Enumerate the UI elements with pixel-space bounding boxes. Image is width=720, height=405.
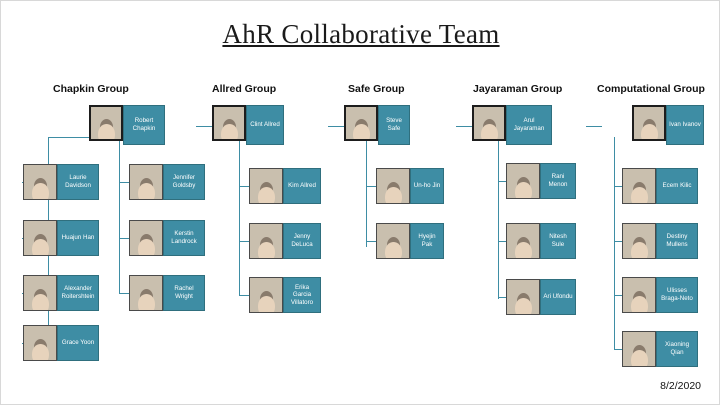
connector-allred-lead xyxy=(196,126,212,127)
person-name: Arul Jayaraman xyxy=(506,105,552,145)
portrait-photo xyxy=(23,275,57,311)
portrait-photo xyxy=(23,325,57,361)
portrait-photo xyxy=(249,277,283,313)
portrait-photo xyxy=(129,164,163,200)
portrait-photo xyxy=(212,105,246,141)
portrait-photo xyxy=(129,275,163,311)
portrait-photo xyxy=(376,168,410,204)
portrait-photo xyxy=(472,105,506,141)
portrait-photo xyxy=(622,223,656,259)
portrait-photo xyxy=(376,223,410,259)
portrait-photo xyxy=(622,277,656,313)
person-card-ulisses-braga-neto[interactable]: Ulisses Braga-Neto xyxy=(622,277,698,313)
connector-computational-2 xyxy=(614,241,622,242)
connector-allred-3 xyxy=(239,295,249,296)
page-title: AhR Collaborative Team xyxy=(1,19,720,50)
connector-jayaraman-spine xyxy=(498,137,499,299)
person-name: Hyejin Pak xyxy=(410,223,444,259)
person-card-robert-chapkin[interactable]: Robert Chapkin xyxy=(89,105,165,145)
portrait-photo xyxy=(506,223,540,259)
person-name: Destiny Mullens xyxy=(656,223,698,259)
connector-jayaraman-3 xyxy=(498,297,506,298)
person-card-destiny-mullens[interactable]: Destiny Mullens xyxy=(622,223,698,259)
person-name: Un-ho Jin xyxy=(410,168,444,204)
person-card-ecem-kilic[interactable]: Ecem Kilic xyxy=(622,168,698,204)
portrait-photo xyxy=(249,168,283,204)
org-chart-page: AhR Collaborative Team Chapkin Group All… xyxy=(0,0,720,405)
connector-chapkin-spine-right xyxy=(119,137,120,293)
person-name: Laurie Davidson xyxy=(57,164,99,200)
portrait-photo xyxy=(23,220,57,256)
person-card-grace-yoon[interactable]: Grace Yoon xyxy=(23,325,99,361)
person-card-huajun-han[interactable]: Huajun Han xyxy=(23,220,99,256)
person-name: Xiaoning Qian xyxy=(656,331,698,367)
person-card-jennifer-goldsby[interactable]: Jennifer Goldsby xyxy=(129,164,205,200)
date-label: 8/2/2020 xyxy=(660,380,701,392)
person-name: Rachel Wright xyxy=(163,275,205,311)
person-name: Robert Chapkin xyxy=(123,105,165,145)
person-card-clint-allred[interactable]: Clint Allred xyxy=(212,105,284,145)
connector-safe-spine xyxy=(366,137,367,247)
connector-jayaraman-lead xyxy=(456,126,472,127)
group-label-allred: Allred Group xyxy=(212,83,276,95)
connector-allred-2 xyxy=(239,241,249,242)
person-name: Ecem Kilic xyxy=(656,168,698,204)
connector-computational-lead xyxy=(586,126,602,127)
connector-safe-1 xyxy=(366,186,376,187)
person-card-rani-menon[interactable]: Rani Menon xyxy=(506,163,576,199)
portrait-photo xyxy=(89,105,123,141)
portrait-photo xyxy=(506,163,540,199)
person-name: Steve Safe xyxy=(378,105,410,145)
portrait-photo xyxy=(632,105,666,141)
connector-safe-lead xyxy=(328,126,344,127)
connector-safe-2 xyxy=(366,241,376,242)
connector-computational-spine xyxy=(614,137,615,349)
person-name: Ulisses Braga-Neto xyxy=(656,277,698,313)
portrait-photo xyxy=(622,331,656,367)
person-name: Rani Menon xyxy=(540,163,576,199)
connector-chapkin-7 xyxy=(119,293,129,294)
person-name: Kerstin Landrock xyxy=(163,220,205,256)
portrait-photo xyxy=(506,279,540,315)
portrait-photo xyxy=(23,164,57,200)
portrait-photo xyxy=(344,105,378,141)
person-card-hyejin-pak[interactable]: Hyejin Pak xyxy=(376,223,444,259)
connector-computational-1 xyxy=(614,186,622,187)
person-name: Kim Allred xyxy=(283,168,321,204)
person-card-kim-allred[interactable]: Kim Allred xyxy=(249,168,321,204)
connector-computational-3 xyxy=(614,295,622,296)
connector-chapkin-5 xyxy=(119,182,129,183)
person-card-rachel-wright[interactable]: Rachel Wright xyxy=(129,275,205,311)
person-card-nitesh-sule[interactable]: Nitesh Sule xyxy=(506,223,576,259)
person-name: Clint Allred xyxy=(246,105,284,145)
portrait-photo xyxy=(622,168,656,204)
person-name: Huajun Han xyxy=(57,220,99,256)
connector-jayaraman-1 xyxy=(498,181,506,182)
person-name: Ivan Ivanov xyxy=(666,105,704,145)
connector-allred-spine xyxy=(239,137,240,296)
person-card-erika-garcia-villatoro[interactable]: Erika Garcia Villatoro xyxy=(249,277,321,313)
person-card-jenny-deluca[interactable]: Jenny DeLuca xyxy=(249,223,321,259)
person-card-steve-safe[interactable]: Steve Safe xyxy=(344,105,410,145)
group-label-safe: Safe Group xyxy=(348,83,405,95)
person-card-laurie-davidson[interactable]: Laurie Davidson xyxy=(23,164,99,200)
person-card-ivan-ivanov[interactable]: Ivan Ivanov xyxy=(632,105,704,145)
person-name: Jenny DeLuca xyxy=(283,223,321,259)
connector-chapkin-lead xyxy=(48,137,90,138)
portrait-photo xyxy=(249,223,283,259)
portrait-photo xyxy=(129,220,163,256)
person-name: Grace Yoon xyxy=(57,325,99,361)
group-label-computational: Computational Group xyxy=(597,83,705,95)
person-card-xiaoning-qian[interactable]: Xiaoning Qian xyxy=(622,331,698,367)
group-label-jayaraman: Jayaraman Group xyxy=(473,83,562,95)
person-name: Nitesh Sule xyxy=(540,223,576,259)
person-card-arul-jayaraman[interactable]: Arul Jayaraman xyxy=(472,105,552,145)
person-card-alexander-roitershtein[interactable]: Alexander Roitershtein xyxy=(23,275,99,311)
connector-computational-4 xyxy=(614,349,622,350)
person-card-kerstin-landrock[interactable]: Kerstin Landrock xyxy=(129,220,205,256)
connector-allred-1 xyxy=(239,186,249,187)
person-name: Alexander Roitershtein xyxy=(57,275,99,311)
person-card-un-ho-jin[interactable]: Un-ho Jin xyxy=(376,168,444,204)
connector-jayaraman-2 xyxy=(498,241,506,242)
person-name: Ari Ufondu xyxy=(540,279,576,315)
person-card-ari-ufondu[interactable]: Ari Ufondu xyxy=(506,279,576,315)
group-label-chapkin: Chapkin Group xyxy=(53,83,129,95)
person-name: Jennifer Goldsby xyxy=(163,164,205,200)
person-name: Erika Garcia Villatoro xyxy=(283,277,321,313)
connector-chapkin-6 xyxy=(119,238,129,239)
